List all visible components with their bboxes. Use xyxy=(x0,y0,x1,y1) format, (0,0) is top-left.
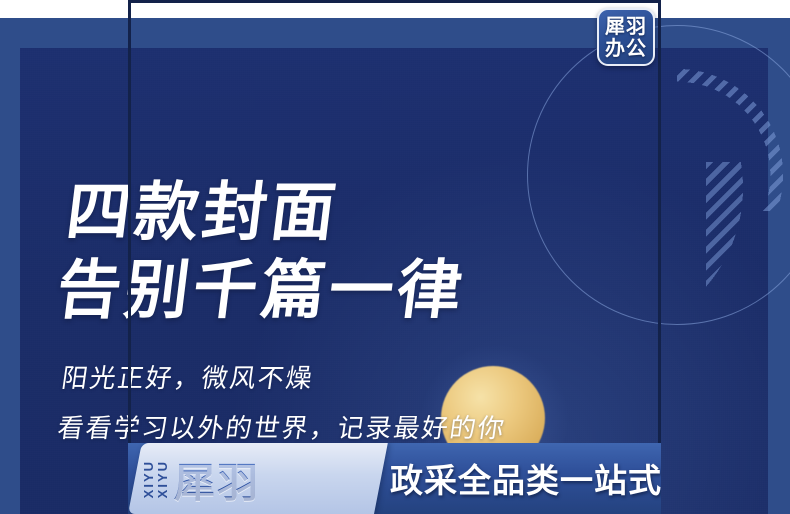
badge-line-1: 犀羽 xyxy=(605,15,647,37)
subheadline-2: 看看学习以外的世界，记录最好的你 xyxy=(55,408,508,445)
headline-line-2: 告别千篇一律 xyxy=(52,252,682,330)
hatched-stripes-icon xyxy=(706,162,776,287)
brand-tagline: 政采全品类一站式服务 xyxy=(390,454,661,502)
subheadline-1: 阳光正好，微风不燥 xyxy=(59,358,316,395)
page-title: 四款封面 告别千篇一律 xyxy=(52,174,691,330)
headline-line-1: 四款封面 xyxy=(62,174,692,252)
crop-guide-right xyxy=(658,0,661,514)
badge-line-2: 办公 xyxy=(605,37,647,59)
crop-guide-top xyxy=(128,0,661,3)
brand-lockup: XIYU XIYU 犀羽 xyxy=(142,449,260,509)
cover-banner-stage: 四款封面 告别千篇一律 阳光正好，微风不燥 看看学习以外的世界，记录最好的你 犀… xyxy=(0,0,790,514)
brand-name-cn: 犀羽 xyxy=(174,449,260,509)
brand-pinyin-top: XIYU xyxy=(142,460,156,498)
brand-pinyin-stack: XIYU XIYU xyxy=(142,460,170,498)
xiyu-office-badge[interactable]: 犀羽 办公 xyxy=(597,8,655,66)
brand-pinyin-bottom: XIYU xyxy=(156,460,170,498)
bottom-brand-bar: XIYU XIYU 犀羽 政采全品类一站式服务 xyxy=(128,443,661,514)
crop-guide-left xyxy=(128,0,131,514)
